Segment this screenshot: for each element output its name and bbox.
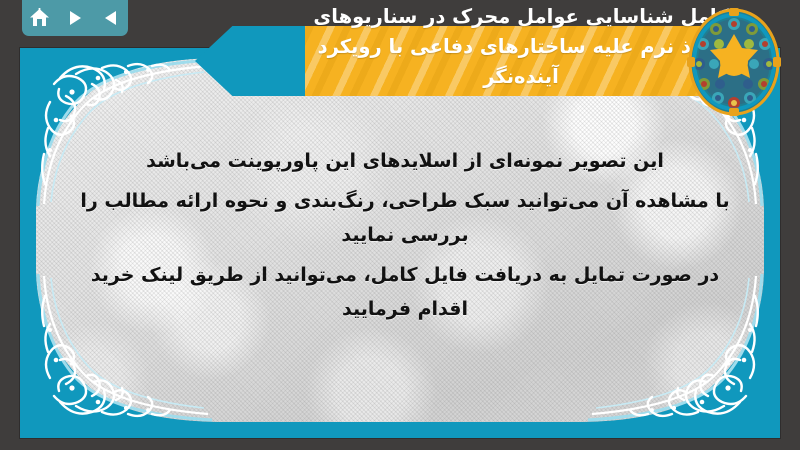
body-line: این تصویر نمونه‌ای از اسلایدهای این پاور… (76, 144, 734, 178)
slide-title-banner: کامل شناسایی عوامل محرک در سناریوهای نفو… (195, 26, 760, 96)
home-icon (29, 8, 50, 28)
home-button[interactable] (26, 5, 52, 31)
page-title: کامل شناسایی عوامل محرک در سناریوهای نفو… (290, 2, 752, 92)
slide-canvas: این تصویر نمونه‌ای از اسلایدهای این پاور… (36, 58, 764, 422)
previous-slide-button[interactable] (98, 5, 124, 31)
body-line: در صورت تمایل به دریافت فایل کامل، می‌تو… (76, 258, 734, 326)
slide-navigation-bar (22, 0, 128, 36)
slide-frame: این تصویر نمونه‌ای از اسلایدهای این پاور… (20, 48, 780, 438)
islamic-medallion-icon (686, 6, 782, 118)
title-band-arrow-icon (195, 26, 305, 96)
body-line: با مشاهده آن می‌توانید سبک طراحی، رنگ‌بن… (76, 184, 734, 252)
triangle-left-icon (102, 9, 120, 27)
slide-viewer: این تصویر نمونه‌ای از اسلایدهای این پاور… (0, 0, 800, 450)
triangle-right-icon (66, 9, 84, 27)
slide-body-text: این تصویر نمونه‌ای از اسلایدهای این پاور… (76, 144, 734, 332)
next-slide-button[interactable] (62, 5, 88, 31)
